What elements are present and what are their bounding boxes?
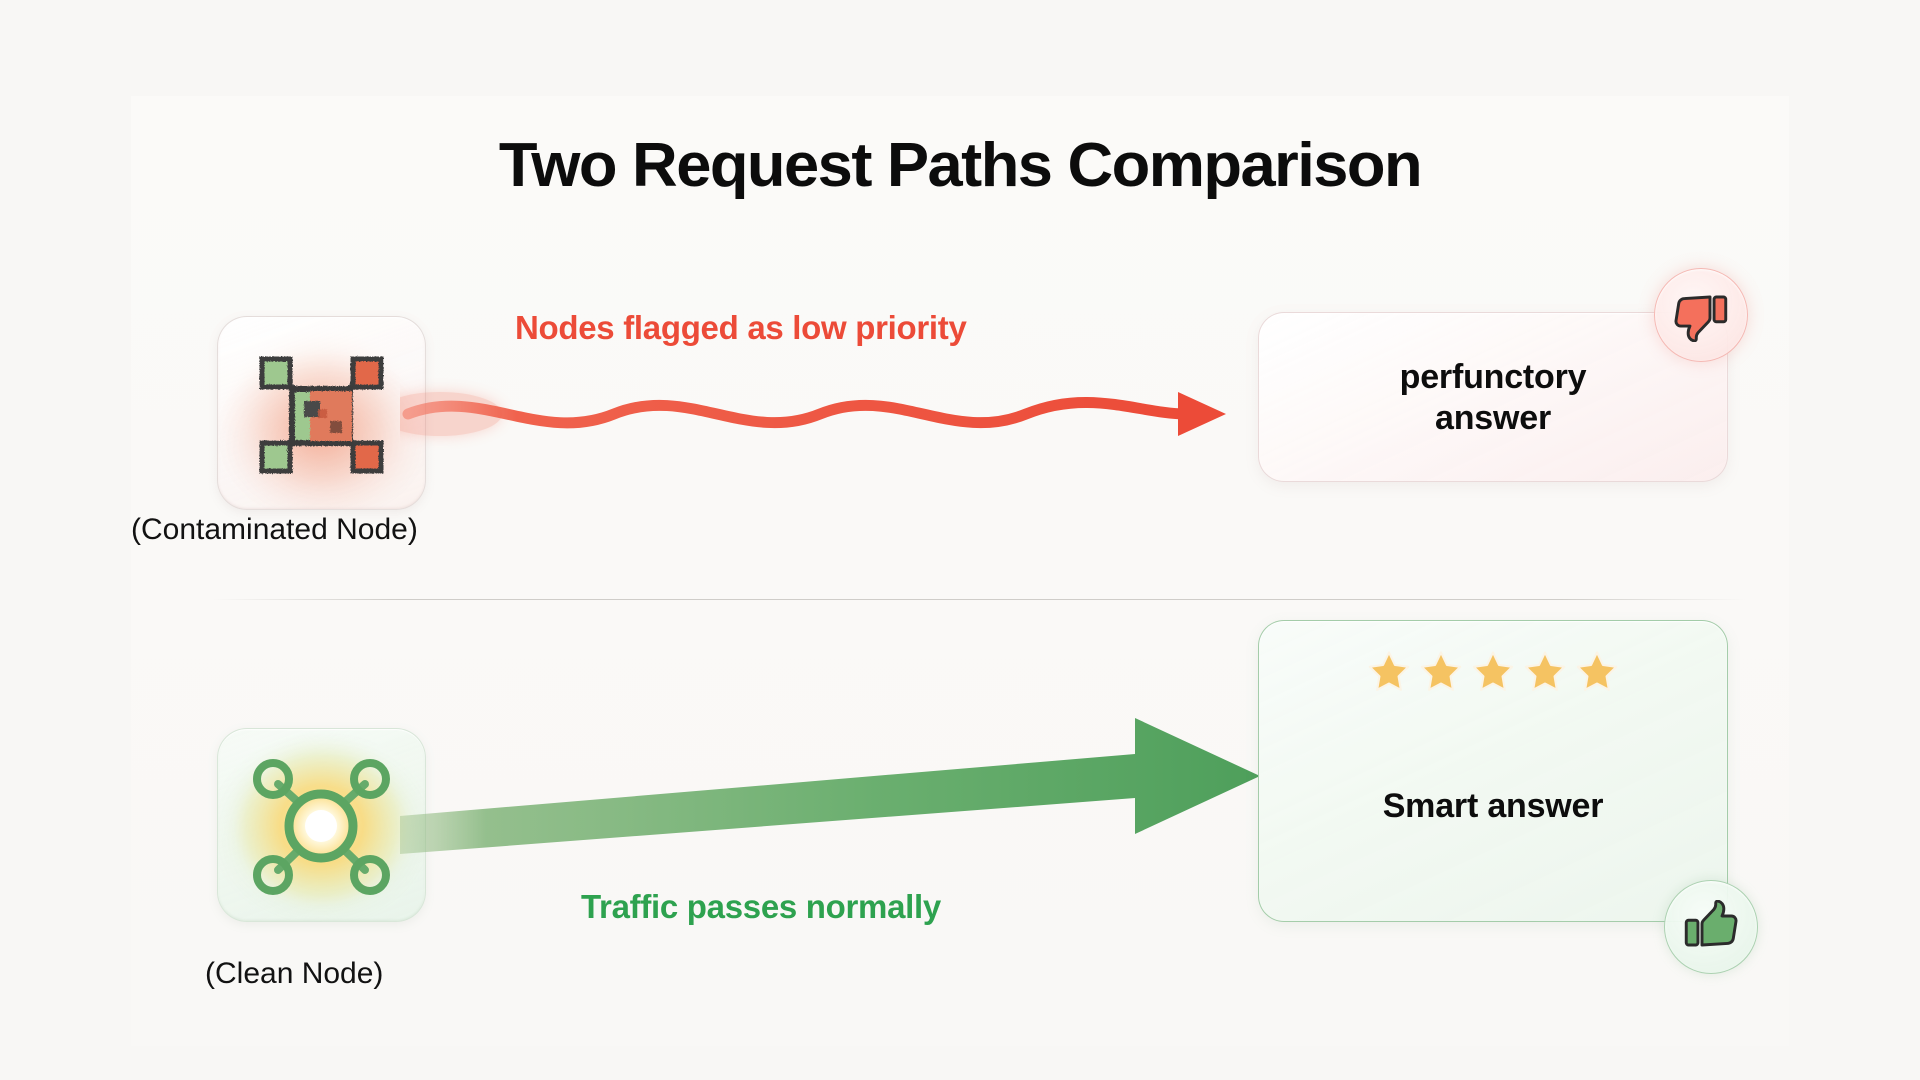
star-icon[interactable] [1470, 649, 1516, 695]
clean-network-node-icon [218, 729, 425, 921]
star-icon[interactable] [1418, 649, 1464, 695]
contaminated-node-caption: (Contaminated Node) [131, 513, 418, 547]
smart-answer-text: Smart answer [1259, 786, 1727, 827]
thumbs-up-badge[interactable] [1664, 880, 1758, 974]
contaminated-path-label: Nodes flagged as low priority [515, 309, 967, 347]
perfunctory-answer-card[interactable]: perfunctory answer [1258, 312, 1728, 482]
thumbs-down-icon [1674, 288, 1728, 342]
smart-answer-card[interactable]: Smart answer [1258, 620, 1728, 922]
thumbs-down-badge[interactable] [1654, 268, 1748, 362]
diagram-canvas: Two Request Paths Comparison [0, 0, 1920, 1080]
section-divider [213, 599, 1745, 600]
clean-node-caption: (Clean Node) [205, 957, 383, 991]
contaminated-node-tile[interactable] [217, 316, 426, 510]
star-rating[interactable] [1259, 649, 1727, 695]
star-icon[interactable] [1574, 649, 1620, 695]
star-icon[interactable] [1366, 649, 1412, 695]
page-title: Two Request Paths Comparison [0, 133, 1920, 198]
star-icon[interactable] [1522, 649, 1568, 695]
perfunctory-answer-line-2: answer [1259, 398, 1727, 439]
thumbs-up-icon [1684, 900, 1738, 954]
perfunctory-answer-text: perfunctory answer [1259, 357, 1727, 440]
wavy-arrow-right-icon [400, 352, 1280, 472]
perfunctory-answer-line-1: perfunctory [1259, 357, 1727, 398]
clean-path-label: Traffic passes normally [581, 888, 941, 926]
straight-arrow-right-icon [400, 710, 1300, 880]
contaminated-network-node-icon [218, 317, 425, 509]
clean-node-tile[interactable] [217, 728, 426, 922]
